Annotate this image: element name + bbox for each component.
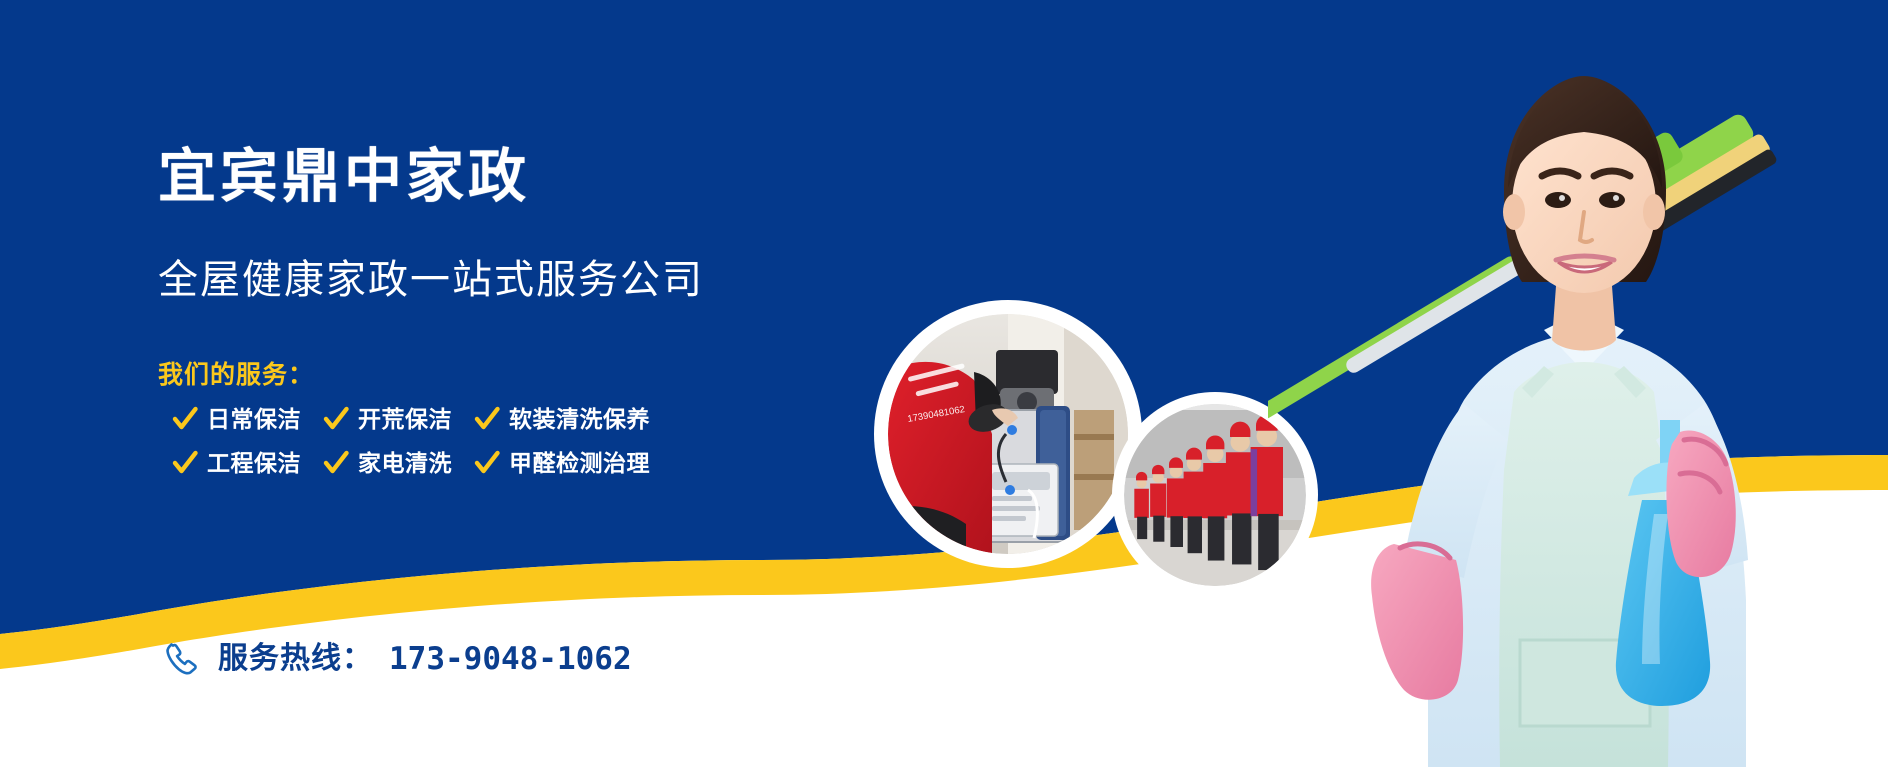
technician-photo: 17390481062	[888, 314, 1128, 554]
cleaner-illustration	[1268, 0, 1888, 767]
services-row: 工程保洁 家电清洗 甲醛检测治理	[172, 450, 650, 476]
service-item: 工程保洁	[172, 450, 301, 476]
check-tick-icon	[172, 450, 198, 476]
eye-right	[1599, 192, 1625, 208]
services-row: 日常保洁 开荒保洁 软装清洗保养	[172, 406, 650, 432]
photo-inner: 17390481062	[888, 314, 1128, 554]
check-tick-icon	[323, 406, 349, 432]
services-heading: 我们的服务：	[158, 363, 314, 388]
service-item-label: 日常保洁	[207, 408, 301, 431]
hotline-block[interactable]: 服务热线： 173-9048-1062	[160, 638, 632, 680]
service-item: 日常保洁	[172, 406, 301, 432]
service-item: 软装清洗保养	[474, 406, 650, 432]
banner-content: 宜宾鼎中家政 全屋健康家政一站式服务公司 我们的服务： 日常保洁 开荒保洁	[0, 0, 900, 767]
service-item-label: 开荒保洁	[358, 408, 452, 431]
ear-left	[1503, 194, 1525, 230]
glove-left	[1371, 544, 1463, 700]
check-tick-icon	[474, 450, 500, 476]
check-tick-icon	[172, 406, 198, 432]
check-tick-icon	[323, 450, 349, 476]
ear-right	[1643, 194, 1665, 230]
services-list: 日常保洁 开荒保洁 软装清洗保养	[172, 406, 650, 476]
brand-title: 宜宾鼎中家政	[158, 148, 530, 206]
service-item-label: 甲醛检测治理	[509, 452, 650, 475]
service-item: 甲醛检测治理	[474, 450, 650, 476]
service-item-label: 工程保洁	[207, 452, 301, 475]
brand-subtitle: 全屋健康家政一站式服务公司	[158, 260, 704, 300]
check-tick-icon	[474, 406, 500, 432]
service-item: 家电清洗	[323, 450, 452, 476]
neck	[1552, 286, 1616, 351]
hotline-number[interactable]: 173-9048-1062	[389, 644, 632, 675]
hotline-label: 服务热线：	[218, 644, 373, 674]
phone-handset-icon	[160, 638, 202, 680]
service-item: 开荒保洁	[323, 406, 452, 432]
eye-left	[1545, 192, 1571, 208]
service-item-label: 家电清洗	[358, 452, 452, 475]
promo-banner: 宜宾鼎中家政 全屋健康家政一站式服务公司 我们的服务： 日常保洁 开荒保洁	[0, 0, 1888, 767]
photo-circle-technician: 17390481062	[874, 300, 1142, 568]
service-item-label: 软装清洗保养	[509, 408, 650, 431]
cleaner-model-figure	[1268, 0, 1888, 767]
